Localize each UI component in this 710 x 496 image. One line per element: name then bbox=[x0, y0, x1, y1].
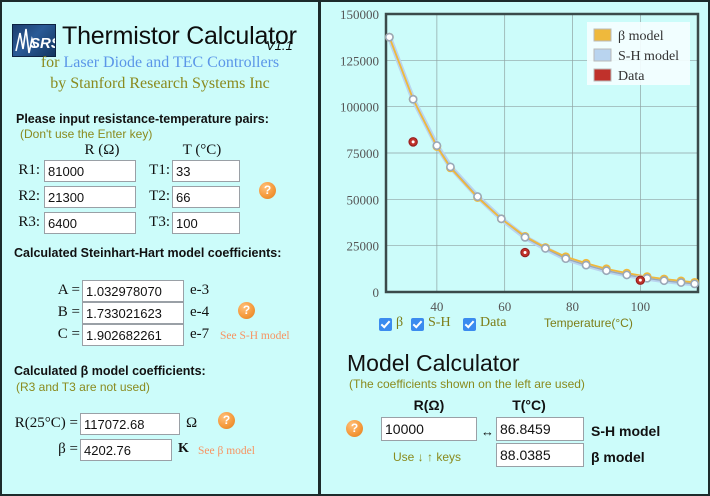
x-axis-title: Temperature(°C) bbox=[544, 316, 633, 330]
series-marker-sh bbox=[677, 279, 684, 286]
input-section-note: (Don't use the Enter key) bbox=[20, 127, 152, 141]
y-tick-label: 0 bbox=[373, 285, 380, 300]
srs-logo: SRS bbox=[12, 24, 56, 57]
y-tick-label: 25000 bbox=[347, 239, 380, 254]
label-beta-model: β model bbox=[591, 449, 645, 465]
bidirectional-arrow-icon: ↔ bbox=[481, 424, 494, 439]
series-marker-sh bbox=[562, 255, 569, 262]
input-temperature-sh[interactable] bbox=[496, 417, 584, 441]
label-sh-model: S-H model bbox=[591, 423, 660, 439]
series-marker-sh bbox=[410, 96, 417, 103]
label-coefficient-a: A = bbox=[42, 282, 80, 299]
series-marker-sh bbox=[660, 277, 667, 284]
app-byline: by Stanford Research Systems Inc bbox=[2, 75, 318, 93]
y-tick-label: 75000 bbox=[347, 146, 380, 161]
label-t2: T2: bbox=[142, 188, 170, 205]
label-coefficient-b: B = bbox=[42, 304, 80, 321]
input-t2[interactable] bbox=[172, 186, 240, 208]
subtitle-prefix: for bbox=[41, 54, 64, 71]
mc-col-header-t: T(°C) bbox=[484, 397, 574, 413]
app-title: Thermistor Calculator bbox=[62, 22, 297, 51]
input-beta[interactable] bbox=[80, 439, 172, 461]
legend-label: S-H model bbox=[618, 49, 679, 64]
label-r25: R(25°C) = bbox=[2, 415, 78, 432]
legend-label: β model bbox=[618, 29, 664, 44]
app-window: SRS Thermistor Calculator V1.1 for Laser… bbox=[0, 0, 710, 496]
unit-kelvin: K bbox=[178, 441, 189, 457]
model-calculator-title: Model Calculator bbox=[347, 350, 520, 377]
exponent-b: e-4 bbox=[190, 304, 209, 321]
help-icon-sh[interactable]: ? bbox=[238, 302, 255, 319]
input-r25[interactable] bbox=[80, 413, 180, 435]
series-marker-sh bbox=[582, 262, 589, 269]
input-resistance-calc[interactable] bbox=[381, 417, 477, 441]
input-t1[interactable] bbox=[172, 160, 240, 182]
input-temperature-beta[interactable] bbox=[496, 443, 584, 467]
input-section-heading: Please input resistance-temperature pair… bbox=[16, 112, 269, 126]
model-calculator-note: (The coefficients shown on the left are … bbox=[349, 377, 585, 391]
series-marker-sh bbox=[474, 193, 481, 200]
series-marker-sh bbox=[498, 215, 505, 222]
legend-swatch bbox=[594, 69, 611, 81]
x-tick-label: 80 bbox=[566, 299, 579, 314]
input-r2[interactable] bbox=[44, 186, 136, 208]
input-t3[interactable] bbox=[172, 212, 240, 234]
beta-section-note: (R3 and T3 are not used) bbox=[16, 380, 150, 394]
input-coefficient-c[interactable] bbox=[82, 324, 184, 346]
checkbox-label-beta: β bbox=[396, 315, 403, 331]
series-marker-data-center bbox=[524, 251, 527, 254]
series-marker-sh bbox=[623, 271, 630, 278]
x-tick-label: 40 bbox=[430, 299, 443, 314]
see-beta-model-link[interactable]: See β model bbox=[198, 445, 255, 457]
checkbox-label-data: Data bbox=[480, 315, 506, 331]
mc-col-header-r: R(Ω) bbox=[384, 397, 474, 413]
col-header-resistance: R (Ω) bbox=[62, 142, 142, 159]
app-version: V1.1 bbox=[266, 38, 293, 53]
input-coefficient-b[interactable] bbox=[82, 302, 184, 324]
input-coefficient-a[interactable] bbox=[82, 280, 184, 302]
series-marker-sh bbox=[433, 142, 440, 149]
y-tick-label: 50000 bbox=[347, 192, 380, 207]
legend-swatch bbox=[594, 49, 611, 61]
beta-section-heading: Calculated β model coefficients: bbox=[14, 364, 206, 378]
right-panel: 0250005000075000100000125000150000406080… bbox=[321, 2, 708, 494]
legend-label: Data bbox=[618, 69, 645, 84]
series-marker-sh bbox=[447, 163, 454, 170]
exponent-c: e-7 bbox=[190, 326, 209, 343]
series-marker-sh bbox=[603, 267, 610, 274]
series-marker-sh bbox=[521, 234, 528, 241]
series-marker-data-center bbox=[412, 140, 415, 143]
legend-swatch bbox=[594, 29, 611, 41]
series-toggle-row: β S-H Data Temperature(°C) bbox=[379, 315, 709, 335]
label-beta: β = bbox=[2, 441, 78, 458]
label-r2: R2: bbox=[8, 188, 40, 205]
label-r1: R1: bbox=[8, 162, 40, 179]
series-marker-sh bbox=[386, 34, 393, 41]
series-marker-sh bbox=[542, 245, 549, 252]
left-panel: SRS Thermistor Calculator V1.1 for Laser… bbox=[2, 2, 318, 494]
subtitle-link[interactable]: Laser Diode and TEC Controllers bbox=[64, 54, 280, 71]
unit-ohm: Ω bbox=[186, 415, 197, 432]
input-r1[interactable] bbox=[44, 160, 136, 182]
exponent-a: e-3 bbox=[190, 282, 209, 299]
series-marker-data-center bbox=[639, 279, 642, 282]
y-tick-label: 150000 bbox=[340, 7, 379, 22]
label-t3: T3: bbox=[142, 214, 170, 231]
sh-section-heading: Calculated Steinhart-Hart model coeffici… bbox=[14, 246, 281, 260]
checkbox-label-sh: S-H bbox=[428, 315, 451, 331]
y-tick-label: 100000 bbox=[340, 100, 379, 115]
y-tick-label: 125000 bbox=[340, 53, 379, 68]
see-sh-model-link[interactable]: See S-H model bbox=[220, 330, 290, 342]
keys-hint: Use ↓ ↑ keys bbox=[393, 450, 461, 464]
x-tick-label: 60 bbox=[498, 299, 511, 314]
checkbox-data[interactable] bbox=[463, 318, 476, 331]
help-icon-model-calculator[interactable]: ? bbox=[346, 420, 363, 437]
label-r3: R3: bbox=[8, 214, 40, 231]
thermistor-chart: 0250005000075000100000125000150000406080… bbox=[321, 2, 708, 342]
svg-text:SRS: SRS bbox=[30, 35, 56, 52]
help-icon-beta[interactable]: ? bbox=[218, 412, 235, 429]
app-subtitle: for Laser Diode and TEC Controllers bbox=[2, 54, 318, 72]
chart-svg: 0250005000075000100000125000150000406080… bbox=[321, 2, 708, 342]
checkbox-sh[interactable] bbox=[411, 318, 424, 331]
label-t1: T1: bbox=[142, 162, 170, 179]
input-r3[interactable] bbox=[44, 212, 136, 234]
x-tick-label: 100 bbox=[631, 299, 651, 314]
label-coefficient-c: C = bbox=[42, 326, 80, 343]
help-icon-inputs[interactable]: ? bbox=[259, 182, 276, 199]
col-header-temperature: T (°C) bbox=[162, 142, 242, 159]
series-marker-sh bbox=[691, 280, 698, 287]
checkbox-beta[interactable] bbox=[379, 318, 392, 331]
